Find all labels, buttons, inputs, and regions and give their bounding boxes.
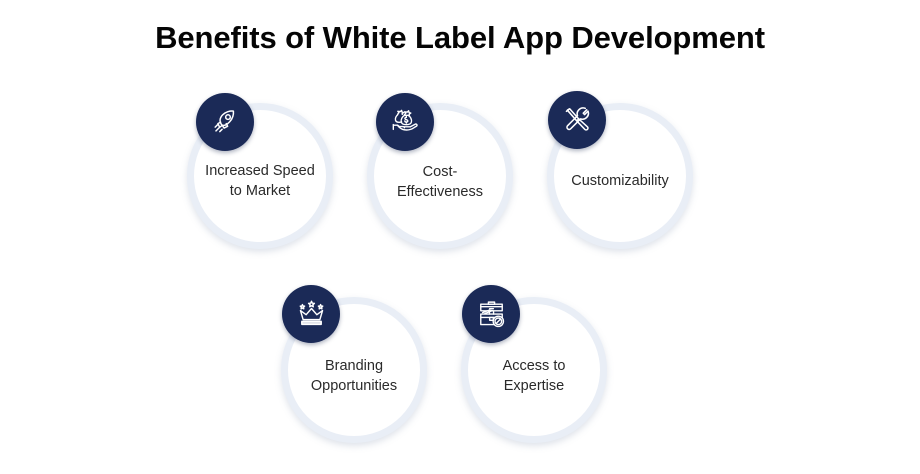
- toolbox-gauge-icon: [475, 298, 508, 331]
- benefit-node-increased-speed-to-market: Increased Speed to Market: [187, 103, 333, 249]
- infographic-canvas: Benefits of White Label App Development …: [0, 0, 920, 474]
- benefit-badge: [196, 93, 254, 151]
- benefit-node-access-to-expertise: Access to Expertise: [461, 297, 607, 443]
- rocket-icon: [209, 106, 241, 138]
- benefit-badge: [376, 93, 434, 151]
- page-title: Benefits of White Label App Development: [0, 20, 920, 56]
- money-bag-hand-icon: [389, 106, 421, 138]
- benefit-badge: [282, 285, 340, 343]
- benefit-node-cost-effectiveness: Cost- Effectiveness: [367, 103, 513, 249]
- benefit-badge: [548, 91, 606, 149]
- benefit-badge: [462, 285, 520, 343]
- crown-icon: [295, 298, 328, 331]
- wrench-screwdriver-icon: [561, 104, 594, 137]
- benefit-node-customizability: Customizability: [547, 103, 693, 249]
- benefit-node-branding-opportunities: Branding Opportunities: [281, 297, 427, 443]
